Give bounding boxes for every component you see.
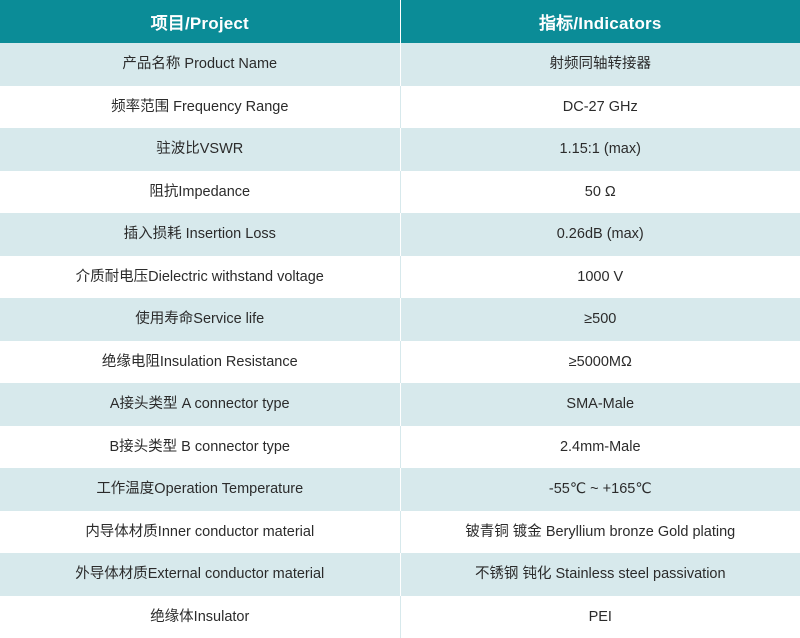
specification-table: 项目/Project 指标/Indicators 产品名称 Product Na… bbox=[0, 0, 800, 638]
cell-project: 工作温度Operation Temperature bbox=[0, 468, 400, 511]
table-row: 产品名称 Product Name射频同轴转接器 bbox=[0, 43, 800, 86]
cell-project: 频率范围 Frequency Range bbox=[0, 86, 400, 129]
cell-indicator: 射频同轴转接器 bbox=[400, 43, 800, 86]
table-row: 绝缘体InsulatorPEI bbox=[0, 596, 800, 638]
cell-indicator: 不锈钢 钝化 Stainless steel passivation bbox=[400, 553, 800, 596]
cell-indicator: SMA-Male bbox=[400, 383, 800, 426]
cell-indicator: 0.26dB (max) bbox=[400, 213, 800, 256]
table-row: 插入损耗 Insertion Loss0.26dB (max) bbox=[0, 213, 800, 256]
cell-indicator: DC-27 GHz bbox=[400, 86, 800, 129]
cell-indicator: 1.15:1 (max) bbox=[400, 128, 800, 171]
table-row: 使用寿命Service life≥500 bbox=[0, 298, 800, 341]
cell-project: 插入损耗 Insertion Loss bbox=[0, 213, 400, 256]
table-row: 阻抗Impedance50 Ω bbox=[0, 171, 800, 214]
table-row: 介质耐电压Dielectric withstand voltage1000 V bbox=[0, 256, 800, 299]
cell-project: B接头类型 B connector type bbox=[0, 426, 400, 469]
table-row: A接头类型 A connector typeSMA-Male bbox=[0, 383, 800, 426]
cell-indicator: ≥5000MΩ bbox=[400, 341, 800, 384]
table-row: 驻波比VSWR1.15:1 (max) bbox=[0, 128, 800, 171]
table-row: 频率范围 Frequency RangeDC-27 GHz bbox=[0, 86, 800, 129]
cell-indicator: 50 Ω bbox=[400, 171, 800, 214]
cell-indicator: 2.4mm-Male bbox=[400, 426, 800, 469]
cell-indicator: PEI bbox=[400, 596, 800, 638]
table-row: 外导体材质External conductor material不锈钢 钝化 S… bbox=[0, 553, 800, 596]
cell-project: 内导体材质Inner conductor material bbox=[0, 511, 400, 554]
column-header-indicators: 指标/Indicators bbox=[400, 0, 800, 43]
table-body: 产品名称 Product Name射频同轴转接器频率范围 Frequency R… bbox=[0, 43, 800, 638]
table-row: 工作温度Operation Temperature-55℃ ~ +165℃ bbox=[0, 468, 800, 511]
cell-project: A接头类型 A connector type bbox=[0, 383, 400, 426]
table-header-row: 项目/Project 指标/Indicators bbox=[0, 0, 800, 43]
cell-project: 产品名称 Product Name bbox=[0, 43, 400, 86]
cell-project: 绝缘体Insulator bbox=[0, 596, 400, 638]
cell-project: 驻波比VSWR bbox=[0, 128, 400, 171]
cell-indicator: 1000 V bbox=[400, 256, 800, 299]
cell-project: 阻抗Impedance bbox=[0, 171, 400, 214]
cell-project: 绝缘电阻Insulation Resistance bbox=[0, 341, 400, 384]
cell-indicator: 铍青铜 镀金 Beryllium bronze Gold plating bbox=[400, 511, 800, 554]
column-header-project: 项目/Project bbox=[0, 0, 400, 43]
cell-project: 使用寿命Service life bbox=[0, 298, 400, 341]
table-row: 绝缘电阻Insulation Resistance≥5000MΩ bbox=[0, 341, 800, 384]
cell-project: 介质耐电压Dielectric withstand voltage bbox=[0, 256, 400, 299]
table-header: 项目/Project 指标/Indicators bbox=[0, 0, 800, 43]
cell-project: 外导体材质External conductor material bbox=[0, 553, 400, 596]
table-row: 内导体材质Inner conductor material铍青铜 镀金 Bery… bbox=[0, 511, 800, 554]
cell-indicator: ≥500 bbox=[400, 298, 800, 341]
cell-indicator: -55℃ ~ +165℃ bbox=[400, 468, 800, 511]
table-row: B接头类型 B connector type2.4mm-Male bbox=[0, 426, 800, 469]
